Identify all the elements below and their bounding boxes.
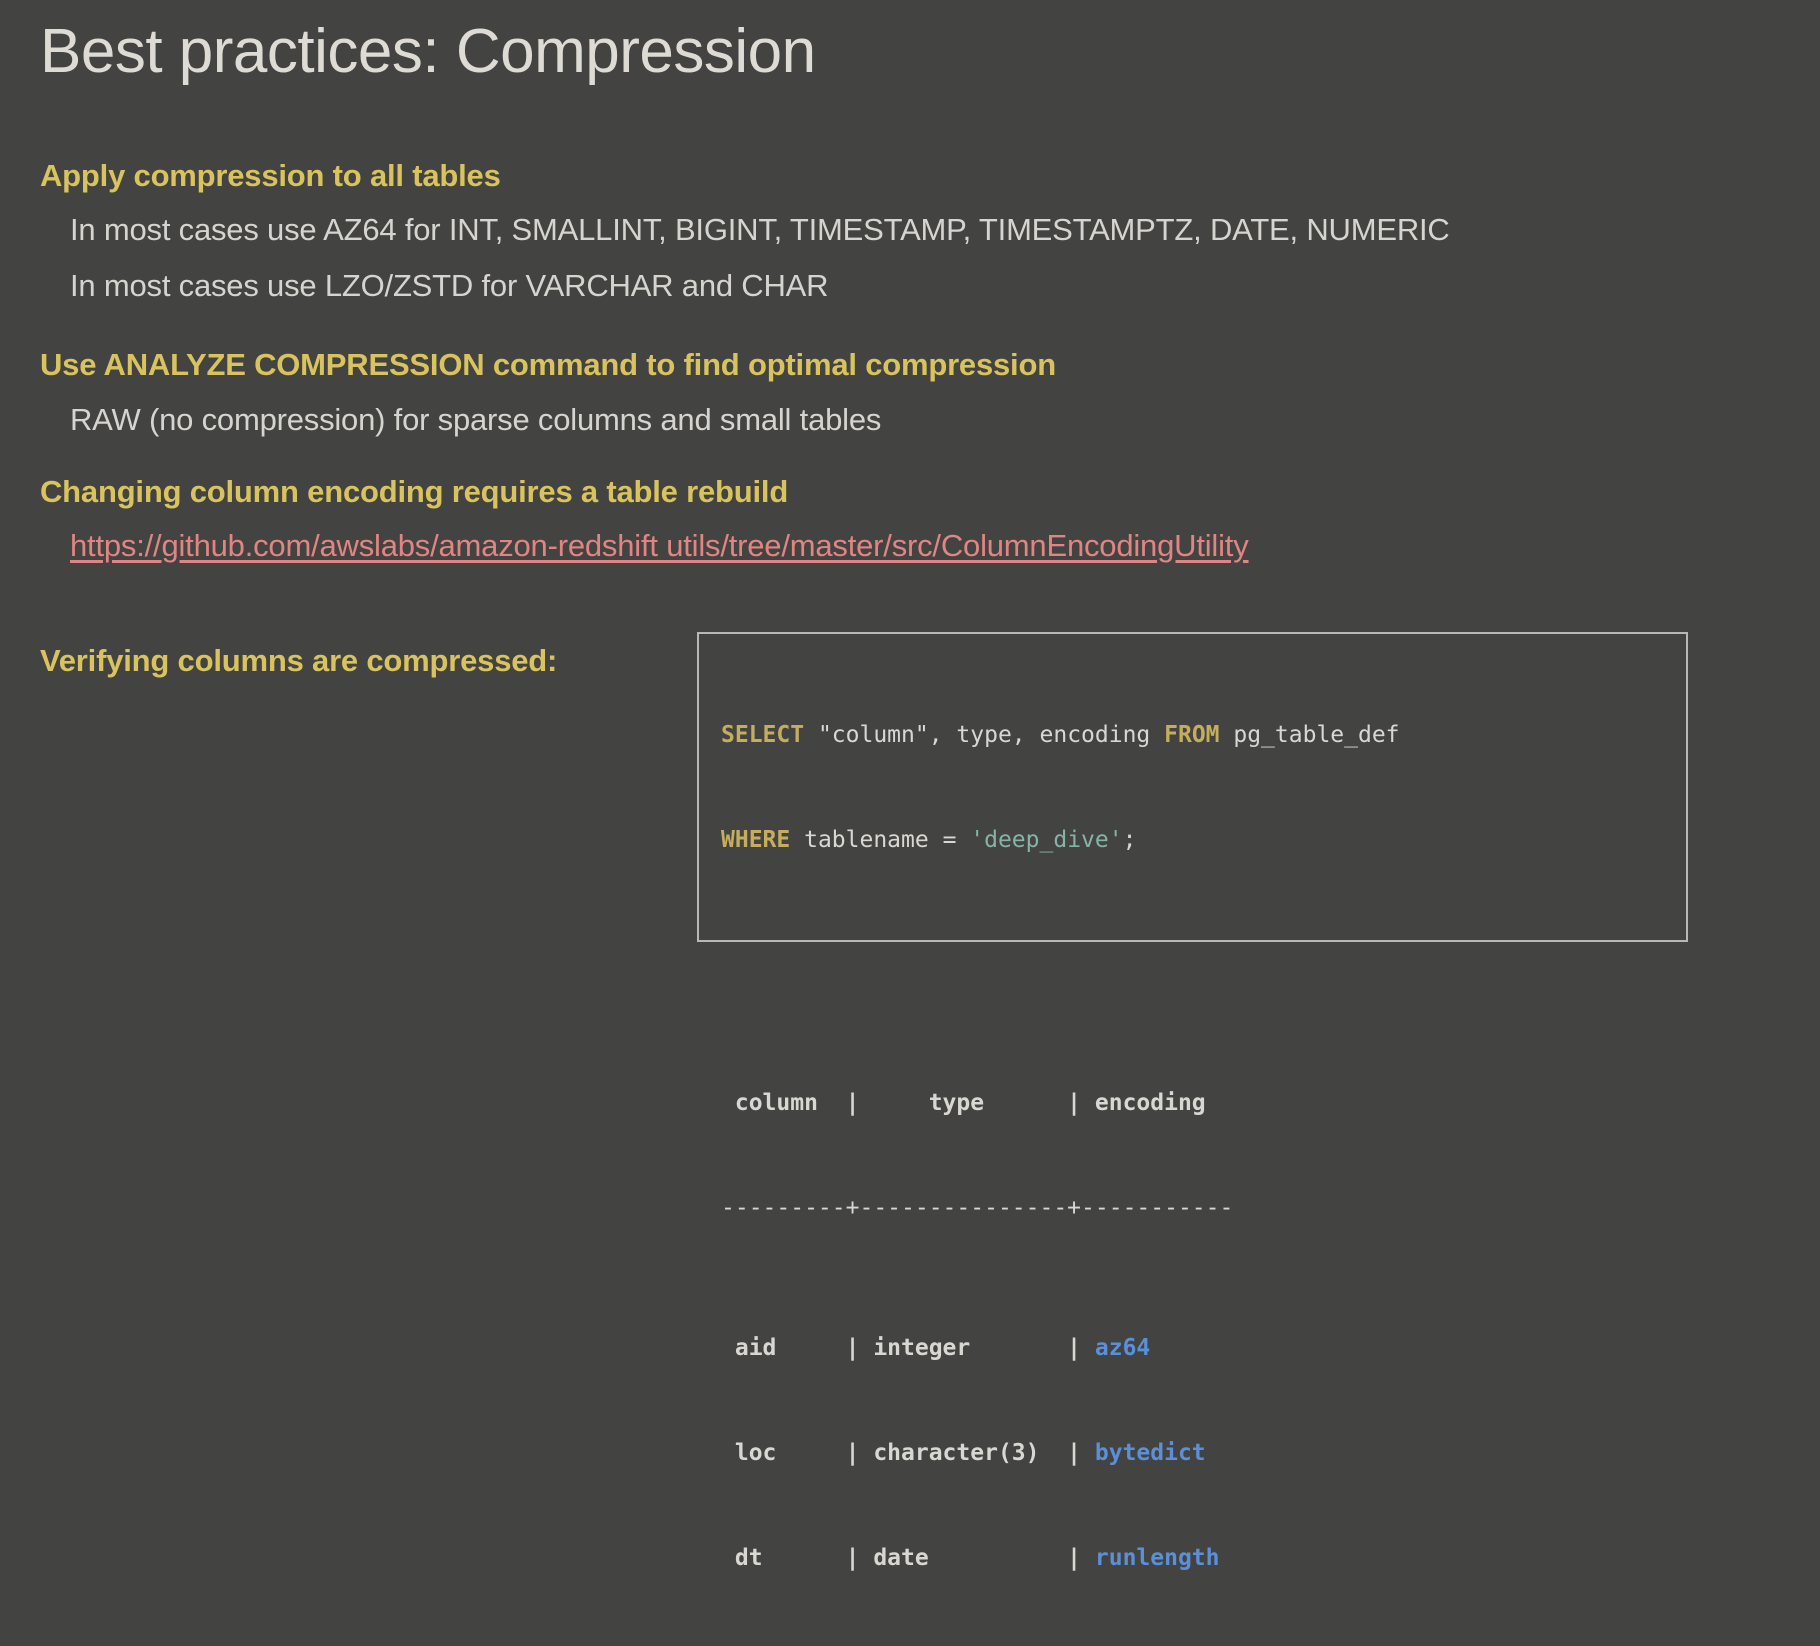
result-table-header: column | type | encoding: [721, 1086, 1664, 1121]
table-row: dt | date | runlength: [721, 1541, 1664, 1576]
slide-canvas: Best practices: Compression Apply compre…: [0, 0, 1820, 964]
sql-statement-terminator: ;: [1123, 827, 1137, 853]
sql-line-select: SELECT "column", type, encoding FROM pg_…: [721, 718, 1664, 753]
section-heading-column-encoding-rebuild: Changing column encoding requires a tabl…: [40, 474, 788, 510]
section-heading-apply-compression: Apply compression to all tables: [40, 158, 501, 194]
sql-table-name: pg_table_def: [1220, 722, 1400, 748]
table-row: aid | integer | az64: [721, 1331, 1664, 1366]
table-row: loc | character(3) | bytedict: [721, 1436, 1664, 1471]
result-table-separator: ---------+---------------+-----------: [721, 1191, 1664, 1226]
section-heading-analyze-compression: Use ANALYZE COMPRESSION command to find …: [40, 347, 1056, 383]
bullet-az64-types: In most cases use AZ64 for INT, SMALLINT…: [70, 212, 1450, 248]
page-title: Best practices: Compression: [40, 18, 816, 86]
column-encoding-utility-link[interactable]: https://github.com/awslabs/amazon-redshi…: [70, 528, 1249, 564]
sql-keyword-where: WHERE: [721, 827, 790, 853]
sql-keyword-from: FROM: [1164, 722, 1219, 748]
sql-predicate: tablename =: [790, 827, 970, 853]
result-row-encoding: bytedict: [1095, 1440, 1206, 1466]
code-spacer: [721, 963, 1664, 981]
result-row-columns: aid | integer |: [721, 1335, 1095, 1361]
section-heading-verifying-columns: Verifying columns are compressed:: [40, 643, 557, 679]
sql-line-where: WHERE tablename = 'deep_dive';: [721, 823, 1664, 858]
sql-select-columns: "column", type, encoding: [804, 722, 1164, 748]
sql-string-literal: 'deep_dive': [970, 827, 1122, 853]
result-row-encoding: az64: [1095, 1335, 1150, 1361]
sql-keyword-select: SELECT: [721, 722, 804, 748]
sql-code-block: SELECT "column", type, encoding FROM pg_…: [697, 632, 1688, 942]
result-row-encoding: runlength: [1095, 1545, 1220, 1571]
result-row-columns: loc | character(3) |: [721, 1440, 1095, 1466]
result-row-columns: dt | date |: [721, 1545, 1095, 1571]
bullet-raw-compression: RAW (no compression) for sparse columns …: [70, 402, 881, 438]
bullet-lzo-zstd-types: In most cases use LZO/ZSTD for VARCHAR a…: [70, 268, 828, 304]
